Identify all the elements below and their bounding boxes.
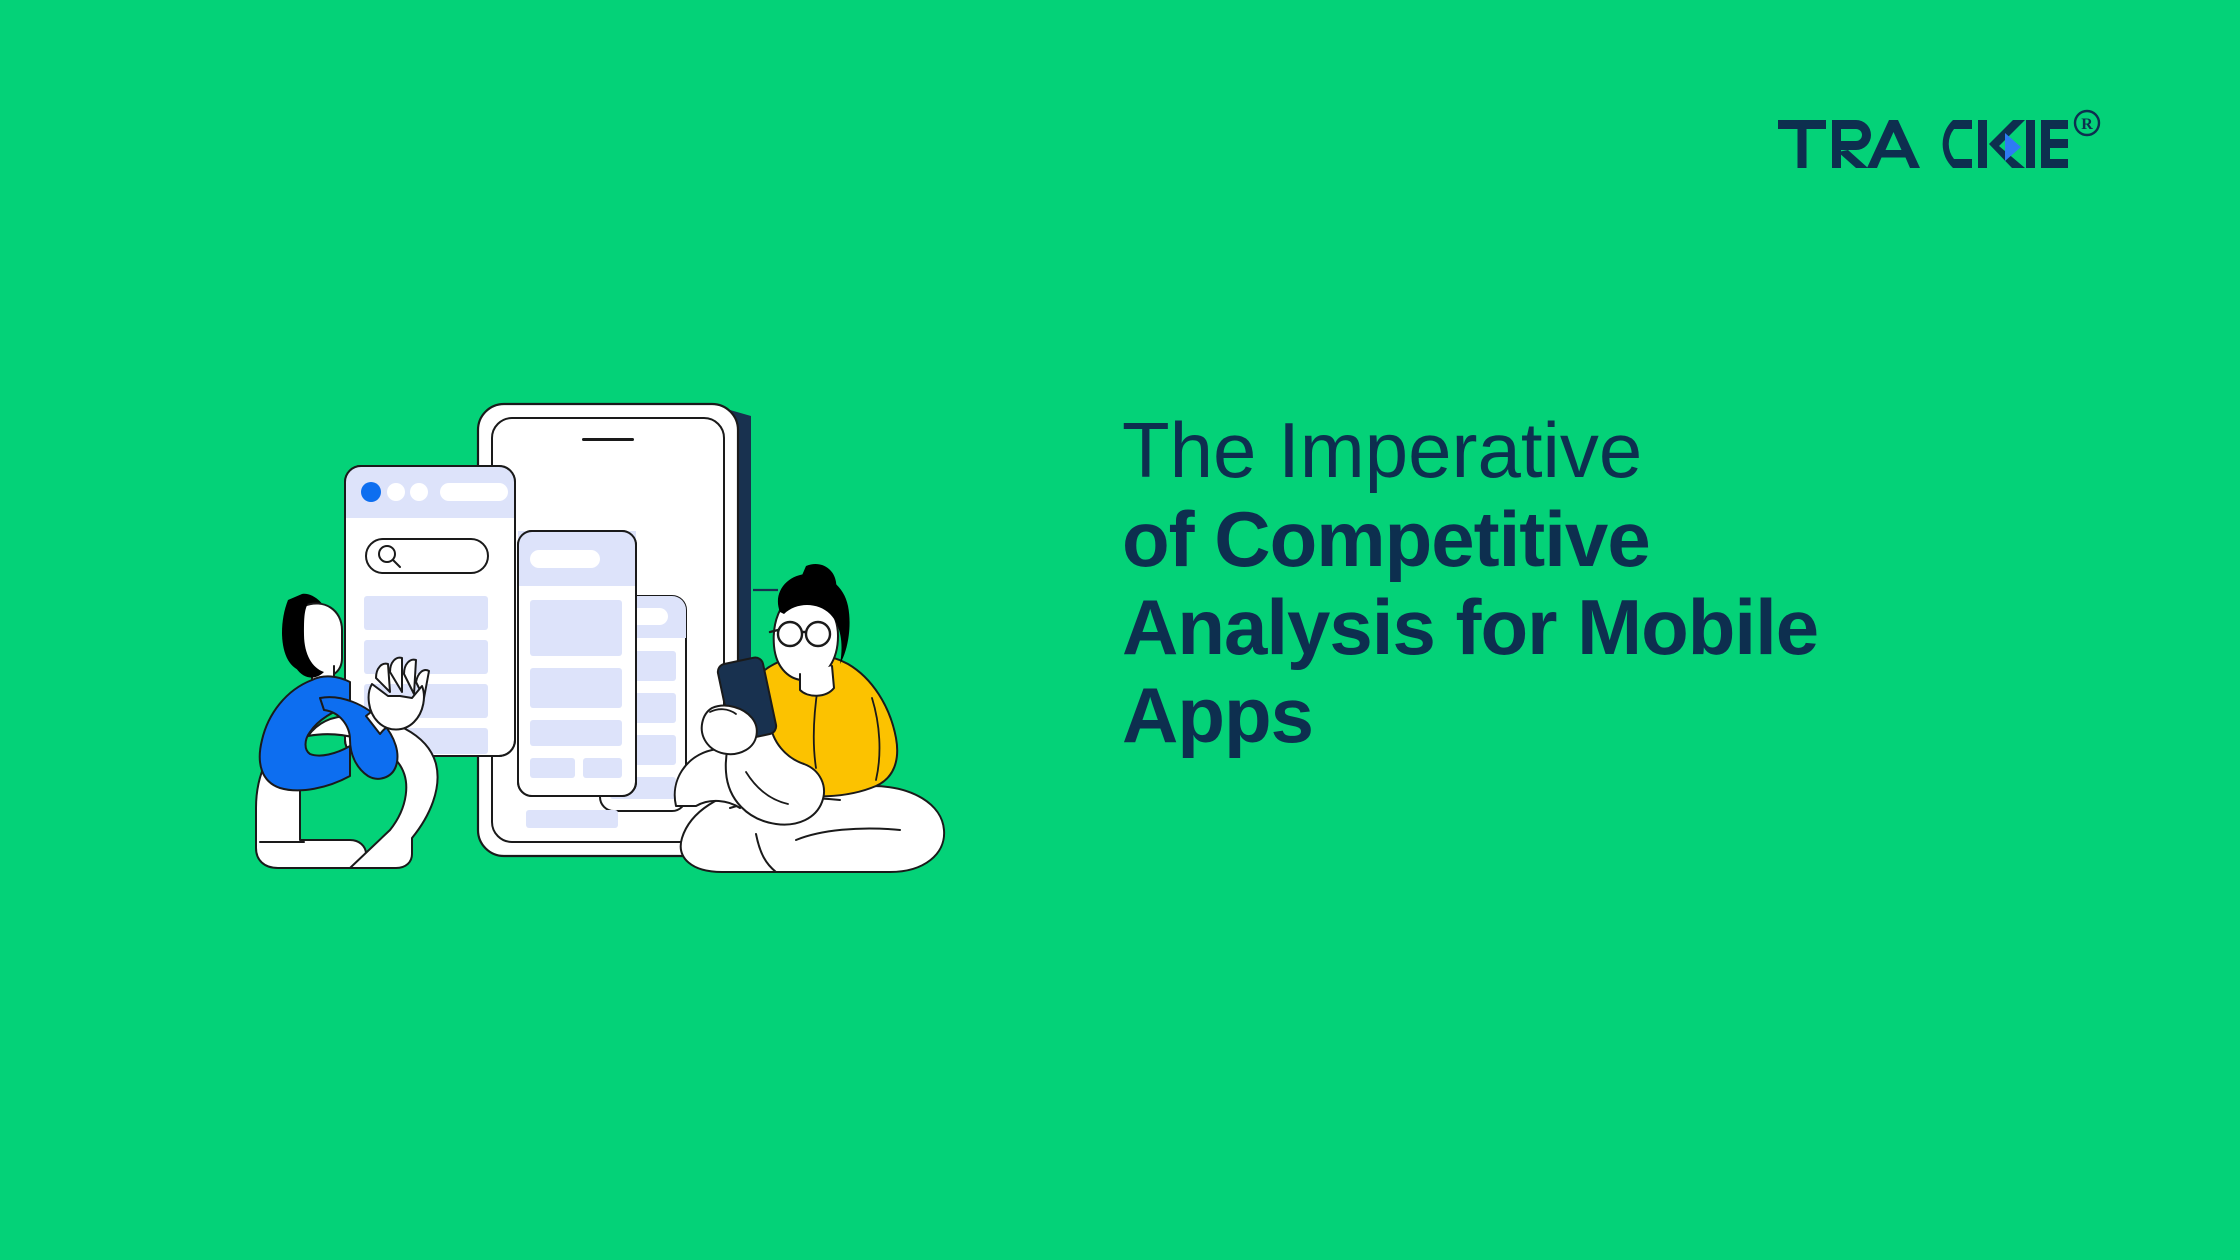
phone-earpiece-icon: [582, 438, 634, 441]
illustration-svg: [200, 368, 1000, 898]
hero-illustration: [200, 368, 1000, 898]
trackier-logo[interactable]: R: [1778, 108, 2104, 178]
search-input[interactable]: [366, 539, 488, 573]
headline-line-2: of Competitive: [1122, 495, 2122, 583]
poster-canvas: R The Imperative of Competitive Analysis…: [0, 0, 2240, 1260]
middle-card-content: [518, 531, 636, 778]
browser-url-pill[interactable]: [440, 483, 508, 501]
logo-accent-triangle: [2005, 133, 2021, 161]
registered-trademark-icon: R: [2070, 106, 2104, 140]
middle-card-title-pill: [530, 550, 600, 568]
headline-line-3: Analysis for Mobile: [1122, 583, 2122, 671]
headline-line-4: Apps: [1122, 671, 2122, 759]
page-title: The Imperative of Competitive Analysis f…: [1122, 406, 2122, 759]
trackier-logo-mark: [1778, 108, 2068, 178]
phone-bottom-placeholder: [526, 810, 618, 828]
headline-line-1: The Imperative: [1122, 406, 2122, 494]
browser-dot-blue-icon[interactable]: [361, 482, 381, 502]
browser-dot-white-2-icon[interactable]: [410, 483, 428, 501]
svg-text:R: R: [2081, 116, 2093, 133]
browser-dot-white-1-icon[interactable]: [387, 483, 405, 501]
